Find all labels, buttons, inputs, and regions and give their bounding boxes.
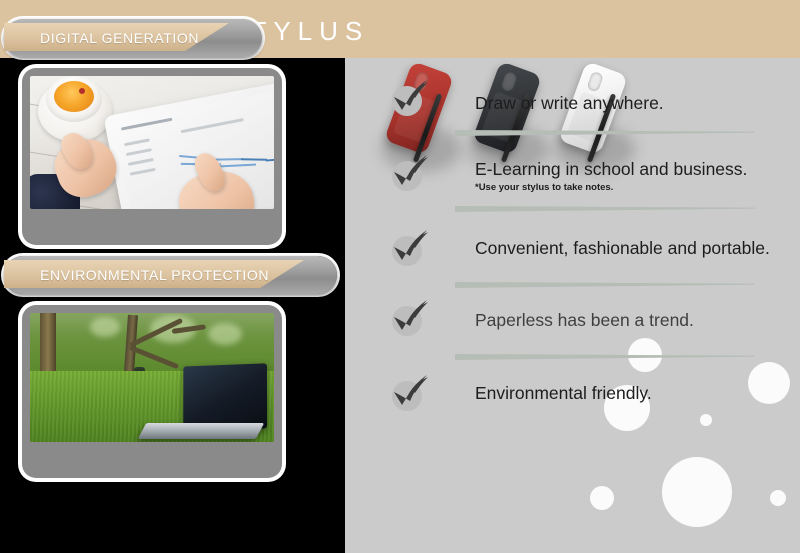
tablet-photo-inner [30,76,274,209]
blurred-foliage [208,323,242,345]
chart-line [241,158,267,160]
brush-divider [455,204,755,213]
section-banner-digital-generation[interactable]: DIGITAL GENERATION [4,19,262,57]
decorative-bubble [748,362,790,404]
checklist-item-title: Draw or write anywhere. [475,93,664,114]
checklist-item-title: Environmental friendly. [475,383,652,404]
screen-ui-bar [128,158,154,166]
check-icon [390,153,430,193]
checklist-item-title: E-Learning in school and business. [475,159,747,180]
checklist-item-subtitle: *Use your stylus to take notes. [475,182,613,193]
screen-ui-bar [130,168,156,176]
check-icon-glyph [390,228,430,268]
camera-cutout-icon [586,71,604,93]
checklist-item-title: Convenient, fashionable and portable. [475,238,770,259]
screen-ui-bar [126,148,152,156]
brush-divider [455,128,755,137]
decorative-bubble [662,457,732,527]
decorative-bubble [700,414,712,426]
check-icon [390,373,430,413]
camera-cutout-icon [500,71,518,93]
laptop-on-grass-photo [22,305,282,478]
check-icon [390,298,430,338]
tea-liquid [54,81,94,112]
blurred-foliage [90,317,120,337]
grass-photo-inner [30,313,274,442]
decorative-bubble [590,486,614,510]
tablet-analytics-photo [22,68,282,245]
check-icon-glyph [390,373,430,413]
screen-ui-bar [124,138,150,146]
infographic-page: WHY USE STYLUS [0,0,800,553]
tablet-scene [30,76,274,209]
ribbon-label: DIGITAL GENERATION [40,19,199,57]
laptop-screen [183,363,267,428]
screen-ui-bar [180,118,243,133]
laptop-keyboard-base [138,423,265,439]
screen-ui-bar [121,118,173,131]
brush-divider [455,280,755,289]
tea-berry [79,88,85,94]
decorative-bubble [770,490,786,506]
section-banner-environmental-protection[interactable]: ENVIRONMENTAL PROTECTION [4,256,337,294]
check-icon-glyph [390,78,430,118]
check-icon-glyph [390,298,430,338]
ribbon-label: ENVIRONMENTAL PROTECTION [40,256,269,294]
check-icon-glyph [390,153,430,193]
check-icon [390,78,430,118]
brush-divider [455,352,755,361]
check-icon [390,228,430,268]
checklist-item-title: Paperless has been a trend. [475,310,694,331]
grass-scene [30,313,274,442]
chart-line [220,164,256,167]
